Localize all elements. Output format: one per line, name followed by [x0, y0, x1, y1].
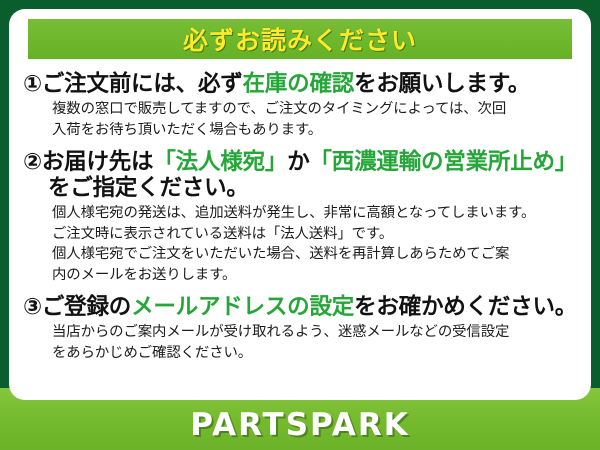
heading-text: ご注文前には、必ず [42, 71, 243, 97]
notice-item: ③ご登録のメールアドレスの設定をお確かめください。当店からのご案内メールが受け取… [23, 294, 577, 363]
notice-card: 必ずお読みください ①ご注文前には、必ず在庫の確認をお願いします。複数の窓口で販… [9, 9, 591, 400]
notice-item-body: 個人様宅宛の発送は、追加送料が発生し、非常に高額となってしまいます。ご注文時に表… [52, 203, 577, 285]
highlighted-phrase: メールアドレスの設定 [131, 294, 354, 320]
body-line: ご注文時に表示されている送料は「法人送料」です。 [52, 224, 577, 244]
highlighted-phrase: 「法人様宛」 [153, 149, 287, 175]
notice-item: ②お届け先は「法人様宛」か「西濃運輸の営業所止め」をご指定ください。個人様宅宛の… [23, 149, 577, 285]
body-line: 内のメールをお送りします。 [52, 265, 577, 285]
border-right [591, 0, 600, 450]
body-line: 個人様宅宛でご注文をいただいた場合、送料を再計算しあらためてご案 [52, 244, 577, 264]
page-title: 必ずお読みください [183, 21, 417, 57]
notice-item-body: 複数の窓口で販売してますので、ご注文のタイミングによっては、次回入荷をお待ち頂い… [52, 99, 577, 140]
title-bar: 必ずお読みください [28, 19, 572, 59]
circled-number-icon: ③ [23, 294, 42, 320]
notice-item-heading: ③ご登録のメールアドレスの設定をお確かめください。 [23, 294, 577, 320]
circled-number-icon: ① [23, 71, 42, 97]
notice-item-heading-line2: をご指定ください。 [48, 175, 577, 201]
body-line: 個人様宅宛の発送は、追加送料が発生し、非常に高額となってしまいます。 [52, 203, 577, 223]
heading-text: をお願いします。 [354, 71, 530, 97]
highlighted-phrase: 「西濃運輸の営業所止め」 [310, 149, 578, 175]
notice-item-heading: ①ご注文前には、必ず在庫の確認をお願いします。 [23, 71, 577, 97]
body-line: 複数の窓口で販売してますので、ご注文のタイミングによっては、次回 [52, 99, 577, 119]
brand-name: PARTSPARK [190, 407, 410, 443]
heading-text: か [287, 149, 309, 175]
notice-item-list: ①ご注文前には、必ず在庫の確認をお願いします。複数の窓口で販売してますので、ご注… [9, 59, 591, 363]
notice-item-heading: ②お届け先は「法人様宛」か「西濃運輸の営業所止め」 [23, 149, 577, 175]
notice-item: ①ご注文前には、必ず在庫の確認をお願いします。複数の窓口で販売してますので、ご注… [23, 71, 577, 140]
body-line: をあらかじめご確認ください。 [52, 343, 577, 363]
body-line: 入荷をお待ち頂いただく場合もあります。 [52, 120, 577, 140]
highlighted-phrase: 在庫の確認 [243, 71, 355, 97]
notice-banner: 必ずお読みください ①ご注文前には、必ず在庫の確認をお願いします。複数の窓口で販… [0, 0, 600, 450]
border-left [0, 0, 9, 450]
body-line: 当店からのご案内メールが受け取れるよう、迷惑メールなどの受信設定 [52, 322, 577, 342]
notice-item-body: 当店からのご案内メールが受け取れるよう、迷惑メールなどの受信設定をあらかじめご確… [52, 322, 577, 363]
heading-text: をお確かめください。 [354, 294, 577, 320]
heading-text: お届け先は [42, 149, 154, 175]
circled-number-icon: ② [23, 149, 42, 175]
heading-text: ご登録の [42, 294, 131, 320]
brand-footer: PARTSPARK [0, 400, 600, 450]
